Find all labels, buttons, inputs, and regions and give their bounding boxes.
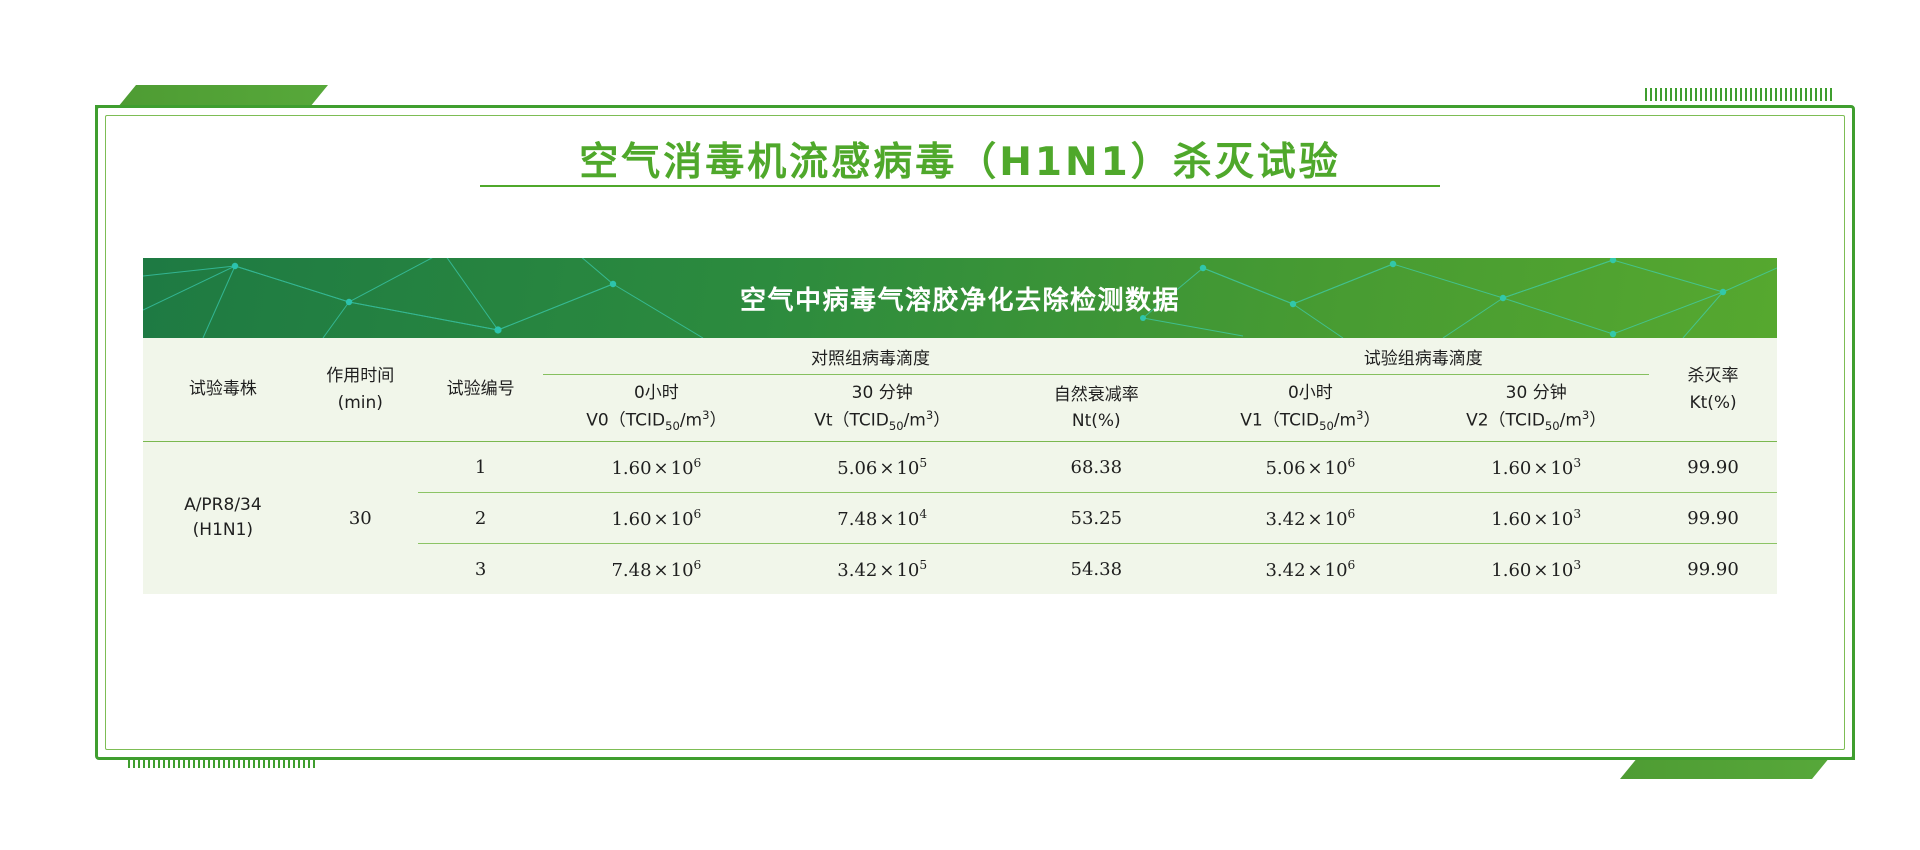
cell-nt: 68.38 <box>995 442 1197 493</box>
data-table-container: 试验毒株 作用时间 (min) 试验编号 对照组病毒滴度 试验组病毒滴度 杀灭率 <box>143 338 1777 594</box>
header-contact-time: 作用时间 (min) <box>303 338 418 442</box>
subheader-v0-unit: V0（TCID50/m3） <box>543 407 769 436</box>
corner-wedge-top-left <box>118 85 328 107</box>
page-title: 空气消毒机流感病毒（H1N1）杀灭试验 <box>0 131 1920 187</box>
cell-v2: 1.60×103 <box>1423 493 1649 544</box>
cell-v0: 1.60×106 <box>543 493 769 544</box>
table-row: A/PR8/34 (H1N1) 30 1 1.60×106 5.06×105 6… <box>143 442 1777 493</box>
header-test-number: 试验编号 <box>418 338 544 442</box>
table-group-header-row: 试验毒株 作用时间 (min) 试验编号 对照组病毒滴度 试验组病毒滴度 杀灭率 <box>143 338 1777 375</box>
cell-v2: 1.60×103 <box>1423 544 1649 595</box>
cell-v1: 3.42×106 <box>1197 544 1423 595</box>
cell-v1: 5.06×106 <box>1197 442 1423 493</box>
subheader-v2-unit: V2（TCID50/m3） <box>1423 407 1649 436</box>
cell-nt: 54.38 <box>995 544 1197 595</box>
cell-strain: A/PR8/34 (H1N1) <box>143 442 303 595</box>
cell-v1: 3.42×106 <box>1197 493 1423 544</box>
cell-nt: 53.25 <box>995 493 1197 544</box>
cell-contact-time: 30 <box>303 442 418 595</box>
subheader-v2: 30 分钟 V2（TCID50/m3） <box>1423 375 1649 442</box>
cell-test-number: 1 <box>418 442 544 493</box>
frame-tick-br-h <box>1821 757 1855 760</box>
cell-vt: 3.42×105 <box>769 544 995 595</box>
subheader-vt: 30 分钟 Vt（TCID50/m3） <box>769 375 995 442</box>
cell-v0: 1.60×106 <box>543 442 769 493</box>
cell-v2: 1.60×103 <box>1423 442 1649 493</box>
subheader-v1: 0小时 V1（TCID50/m3） <box>1197 375 1423 442</box>
corner-wedge-bottom-right <box>1620 757 1830 779</box>
header-strain: 试验毒株 <box>143 338 303 442</box>
cell-kt: 99.90 <box>1649 493 1777 544</box>
cell-test-number: 3 <box>418 544 544 595</box>
title-underline <box>480 185 1440 187</box>
subheader-v0: 0小时 V0（TCID50/m3） <box>543 375 769 442</box>
header-group-control: 对照组病毒滴度 <box>543 338 1197 375</box>
subheader-vt-unit: Vt（TCID50/m3） <box>769 407 995 436</box>
cell-vt: 7.48×104 <box>769 493 995 544</box>
poster-canvas: 空气消毒机流感病毒（H1N1）杀灭试验 <box>0 0 1920 850</box>
frame-tick-tl-h <box>95 105 129 108</box>
subheader-nt-unit: Nt(%) <box>995 408 1197 434</box>
subheader-v1-unit: V1（TCID50/m3） <box>1197 407 1423 436</box>
cell-kt: 99.90 <box>1649 544 1777 595</box>
cell-v0: 7.48×106 <box>543 544 769 595</box>
banner-title: 空气中病毒气溶胶净化去除检测数据 <box>143 280 1777 317</box>
cell-vt: 5.06×105 <box>769 442 995 493</box>
header-kill-rate: 杀灭率 Kt(%) <box>1649 338 1777 442</box>
subheader-nt: 自然衰减率 Nt(%) <box>995 375 1197 442</box>
header-group-test: 试验组病毒滴度 <box>1197 338 1649 375</box>
hatch-bar-top-right <box>1645 88 1835 101</box>
cell-kt: 99.90 <box>1649 442 1777 493</box>
cell-test-number: 2 <box>418 493 544 544</box>
section-banner: 空气中病毒气溶胶净化去除检测数据 <box>143 258 1777 338</box>
frame-tick-br-v <box>1852 723 1855 757</box>
virus-kill-test-table: 试验毒株 作用时间 (min) 试验编号 对照组病毒滴度 试验组病毒滴度 杀灭率 <box>143 338 1777 594</box>
